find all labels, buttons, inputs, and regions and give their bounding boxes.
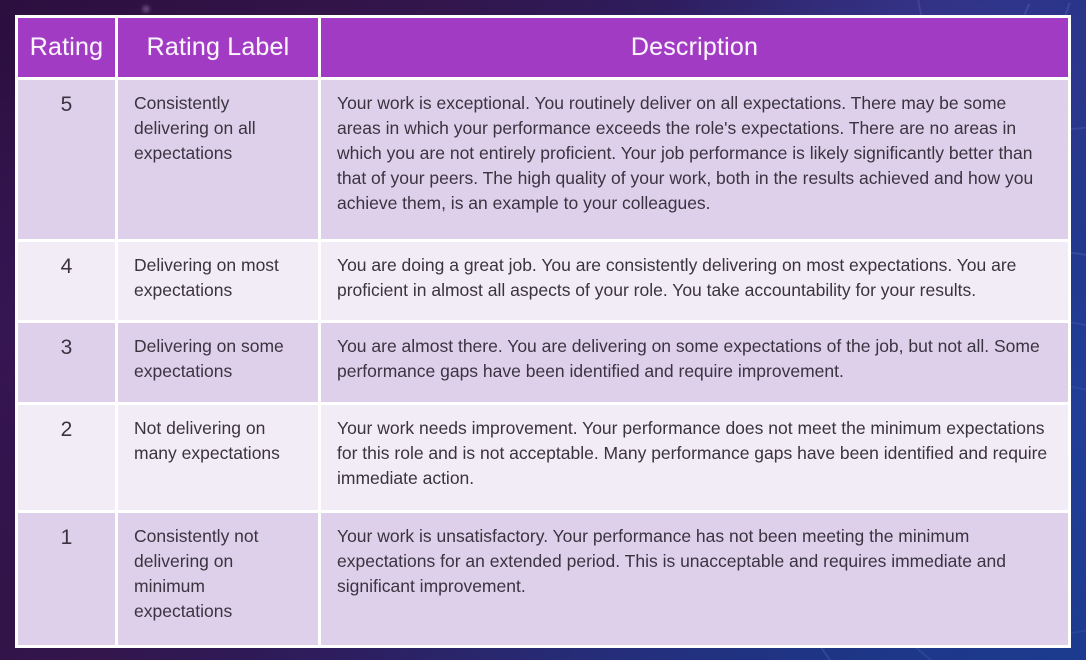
cell-description: You are doing a great job. You are consi… — [321, 242, 1068, 323]
background-glow-dot-icon — [143, 6, 149, 12]
rating-scale-table: Rating Rating Label Description 5 Consis… — [18, 18, 1068, 645]
cell-rating: 4 — [18, 242, 118, 323]
cell-rating-label: Consistently not delivering on minimum e… — [118, 513, 321, 645]
cell-rating-label: Delivering on some expectations — [118, 323, 321, 404]
rating-scale-table-container: Rating Rating Label Description 5 Consis… — [15, 15, 1071, 648]
cell-rating-label: Consistently delivering on all expectati… — [118, 80, 321, 242]
table-row: 3 Delivering on some expectations You ar… — [18, 323, 1068, 404]
cell-rating-label: Delivering on most expectations — [118, 242, 321, 323]
table-row: 2 Not delivering on many expectations Yo… — [18, 405, 1068, 513]
cell-rating-label: Not delivering on many expectations — [118, 405, 321, 513]
table-row: 4 Delivering on most expectations You ar… — [18, 242, 1068, 323]
column-header-rating-label: Rating Label — [118, 18, 321, 80]
cell-rating: 5 — [18, 80, 118, 242]
cell-rating: 3 — [18, 323, 118, 404]
table-body: 5 Consistently delivering on all expecta… — [18, 80, 1068, 645]
cell-rating: 2 — [18, 405, 118, 513]
table-row: 5 Consistently delivering on all expecta… — [18, 80, 1068, 242]
table-row: 1 Consistently not delivering on minimum… — [18, 513, 1068, 645]
cell-description: Your work is unsatisfactory. Your perfor… — [321, 513, 1068, 645]
table-header-row: Rating Rating Label Description — [18, 18, 1068, 80]
cell-description: Your work is exceptional. You routinely … — [321, 80, 1068, 242]
cell-rating: 1 — [18, 513, 118, 645]
cell-description: You are almost there. You are delivering… — [321, 323, 1068, 404]
column-header-rating: Rating — [18, 18, 118, 80]
column-header-description: Description — [321, 18, 1068, 80]
cell-description: Your work needs improvement. Your perfor… — [321, 405, 1068, 513]
table-header: Rating Rating Label Description — [18, 18, 1068, 80]
